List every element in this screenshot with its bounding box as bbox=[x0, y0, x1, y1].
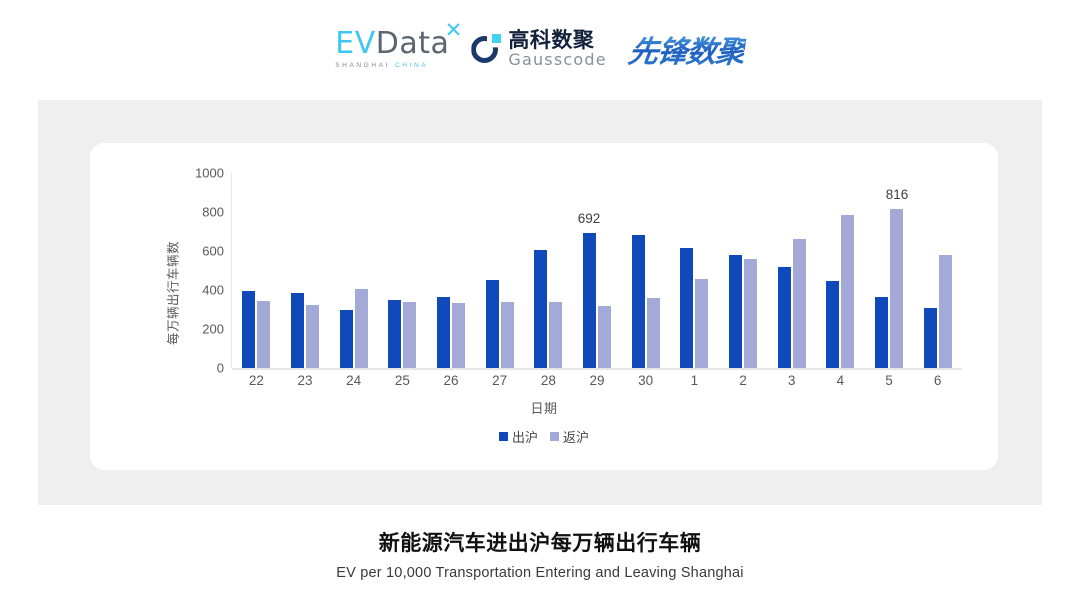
evdata-tagline-shanghai: SHANGHAI bbox=[335, 62, 390, 69]
bar-back bbox=[793, 239, 806, 368]
bar-out bbox=[778, 267, 791, 368]
bar-group bbox=[329, 173, 378, 368]
xianfeng-logo: 先锋数聚 bbox=[626, 27, 748, 71]
bar-back bbox=[403, 302, 416, 368]
bar-back bbox=[355, 289, 368, 368]
chart-plot-wrapper: 每万辆出行车辆数 02004006008001000 692816 222324… bbox=[90, 143, 998, 470]
legend-item[interactable]: 出沪 bbox=[499, 427, 538, 446]
chart-legend: 出沪返沪 bbox=[90, 427, 998, 446]
gausscode-mark-icon bbox=[471, 34, 501, 64]
x-axis-tick-label: 30 bbox=[638, 373, 653, 388]
evdata-logo: EVData ✕ SHANGHAI CHINA bbox=[335, 29, 449, 69]
bar-out bbox=[242, 291, 255, 368]
bar-group bbox=[281, 173, 330, 368]
bar-group bbox=[865, 173, 914, 368]
bar-group bbox=[719, 173, 768, 368]
evdata-tagline: SHANGHAI CHINA bbox=[335, 62, 428, 69]
evdata-cross-icon: ✕ bbox=[445, 20, 463, 41]
bar-out bbox=[583, 233, 596, 368]
bars-plot-area: 692816 bbox=[232, 173, 962, 368]
legend-swatch-icon bbox=[550, 432, 559, 441]
bar-group bbox=[670, 173, 719, 368]
x-axis-tick-label: 2 bbox=[739, 373, 747, 388]
bar-back bbox=[744, 259, 757, 368]
x-axis-tick-label: 25 bbox=[395, 373, 410, 388]
bar-group bbox=[816, 173, 865, 368]
caption-title-cn-text: 新能源汽车进出沪每万辆出行车辆 bbox=[379, 531, 702, 555]
x-axis-tick-label: 22 bbox=[249, 373, 264, 388]
bar-out bbox=[437, 297, 450, 368]
x-axis-tick-label: 1 bbox=[691, 373, 699, 388]
x-axis-tick-label: 3 bbox=[788, 373, 796, 388]
screenshot-root: EVData ✕ SHANGHAI CHINA 高科数聚 Gausscode 先… bbox=[0, 0, 1080, 608]
gausscode-square-shape bbox=[492, 34, 501, 43]
bar-out bbox=[534, 250, 547, 368]
x-axis-tick-label: 6 bbox=[934, 373, 942, 388]
x-axis-tick-label: 26 bbox=[443, 373, 458, 388]
evdata-tagline-china: CHINA bbox=[395, 62, 428, 69]
bar-back bbox=[306, 305, 319, 368]
bar-out bbox=[340, 310, 353, 368]
evdata-data-text: Data bbox=[376, 29, 450, 59]
bar-back bbox=[549, 302, 562, 368]
x-axis-tick-label: 28 bbox=[541, 373, 556, 388]
y-axis-tick-label: 400 bbox=[202, 283, 224, 298]
bar-group bbox=[378, 173, 427, 368]
gausscode-en-text: Gausscode bbox=[508, 52, 606, 68]
bar-group bbox=[427, 173, 476, 368]
bar-back bbox=[501, 302, 514, 368]
chart-card: 每万辆出行车辆数 02004006008001000 692816 222324… bbox=[90, 143, 998, 470]
gausscode-logo: 高科数聚 Gausscode bbox=[471, 30, 606, 68]
evdata-ev-text: EV bbox=[335, 29, 375, 59]
bar-back bbox=[257, 301, 270, 368]
y-axis-tick-label: 200 bbox=[202, 322, 224, 337]
bar-group bbox=[232, 173, 281, 368]
x-axis-tick-label: 27 bbox=[492, 373, 507, 388]
bar-group bbox=[573, 173, 622, 368]
y-axis-tick-label: 800 bbox=[202, 205, 224, 220]
x-axis-title: 日期 bbox=[90, 398, 998, 417]
bar-out bbox=[680, 248, 693, 368]
bar-group bbox=[767, 173, 816, 368]
bar-out bbox=[632, 235, 645, 368]
y-axis-tick-label: 0 bbox=[217, 361, 224, 376]
bar-group bbox=[524, 173, 573, 368]
bar-value-label: 816 bbox=[886, 187, 909, 202]
x-axis-tick-label: 23 bbox=[297, 373, 312, 388]
bar-group bbox=[621, 173, 670, 368]
x-axis-tick-label: 4 bbox=[837, 373, 845, 388]
x-axis-line bbox=[232, 368, 962, 370]
legend-label: 出沪 bbox=[512, 427, 538, 446]
bar-out bbox=[826, 281, 839, 368]
x-axis-tick-label: 24 bbox=[346, 373, 361, 388]
bar-back bbox=[452, 303, 465, 368]
gausscode-wordmark: 高科数聚 Gausscode bbox=[508, 30, 606, 68]
y-axis-tick-label: 600 bbox=[202, 244, 224, 259]
x-axis-tick-label: 29 bbox=[589, 373, 604, 388]
bar-back bbox=[890, 209, 903, 368]
bar-out bbox=[388, 300, 401, 368]
y-axis-title: 每万辆出行车辆数 bbox=[163, 241, 182, 345]
legend-item[interactable]: 返沪 bbox=[550, 427, 589, 446]
logo-bar: EVData ✕ SHANGHAI CHINA 高科数聚 Gausscode 先… bbox=[0, 18, 1080, 80]
caption-title-cn: 新能源汽车进出沪每万辆出行车辆 数 bbox=[0, 531, 1080, 556]
caption-title-en: EV per 10,000 Transportation Entering an… bbox=[0, 565, 1080, 581]
legend-swatch-icon bbox=[499, 432, 508, 441]
bar-out bbox=[729, 255, 742, 368]
bar-back bbox=[647, 298, 660, 368]
bar-out bbox=[486, 280, 499, 368]
bar-back bbox=[841, 215, 854, 368]
bar-out bbox=[291, 293, 304, 368]
gausscode-cn-text: 高科数聚 bbox=[508, 30, 606, 51]
y-axis-tick-label: 1000 bbox=[195, 166, 224, 181]
bar-out bbox=[875, 297, 888, 368]
y-axis-ticks: 02004006008001000 bbox=[182, 173, 224, 368]
x-axis-tick-label: 5 bbox=[885, 373, 893, 388]
bar-back bbox=[939, 255, 952, 368]
evdata-wordmark: EVData ✕ bbox=[335, 29, 449, 59]
bar-value-label: 692 bbox=[578, 211, 601, 226]
bar-out bbox=[924, 308, 937, 368]
bar-back bbox=[598, 306, 611, 368]
x-axis-ticks: 222324252627282930123456 bbox=[232, 373, 962, 395]
bar-back bbox=[695, 279, 708, 368]
bar-group bbox=[913, 173, 962, 368]
caption-block: 新能源汽车进出沪每万辆出行车辆 数 EV per 10,000 Transpor… bbox=[0, 531, 1080, 581]
bar-group bbox=[475, 173, 524, 368]
legend-label: 返沪 bbox=[563, 427, 589, 446]
